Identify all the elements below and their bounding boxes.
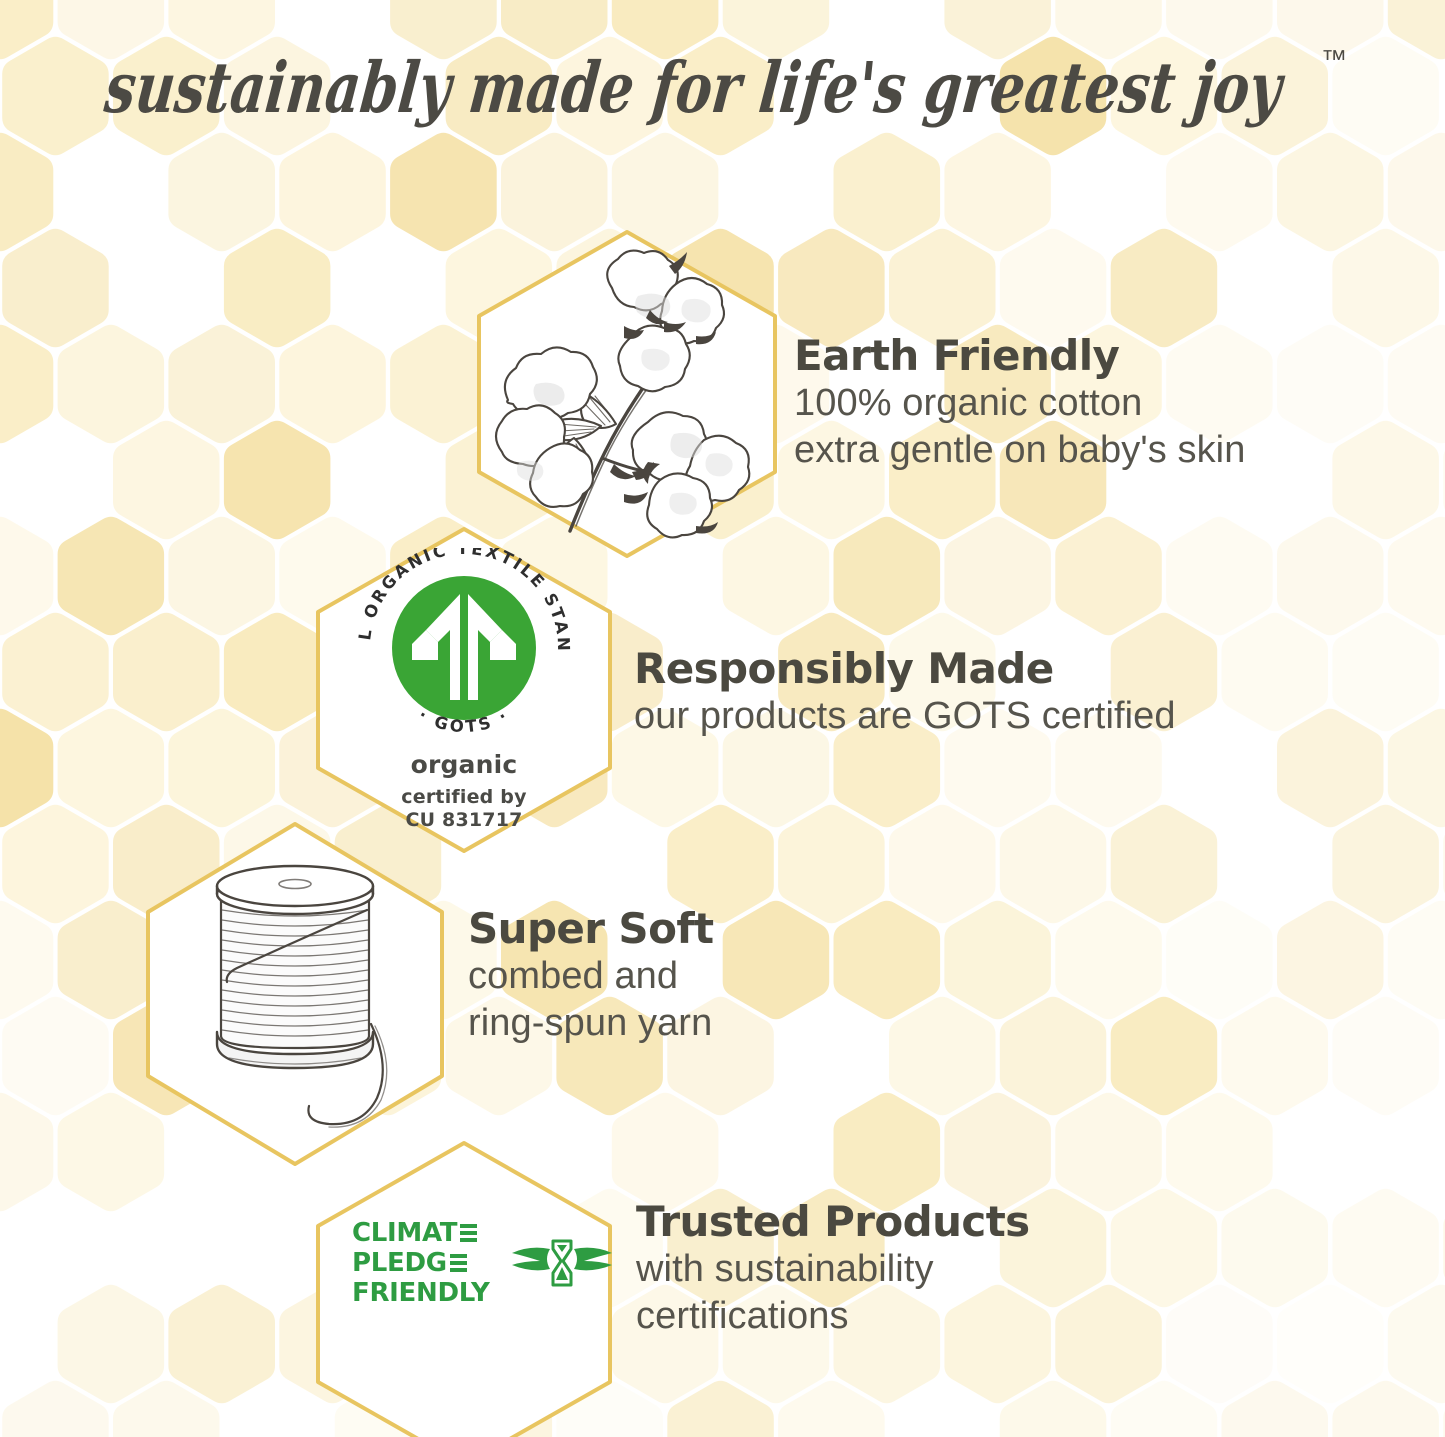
honeycomb-cell xyxy=(1166,1285,1273,1404)
honeycomb-cell xyxy=(889,229,996,348)
honeycomb-cell xyxy=(2,229,109,348)
feature-text-trusted-products: Trusted Products with sustainability cer… xyxy=(636,1198,1030,1341)
feature-line: certifications xyxy=(636,1293,1030,1341)
honeycomb-cell xyxy=(58,517,165,636)
honeycomb-cell xyxy=(1332,613,1439,732)
honeycomb-cell xyxy=(0,1093,53,1212)
honeycomb-cell xyxy=(2,805,109,924)
honeycomb-cell xyxy=(58,325,165,444)
honeycomb-cell xyxy=(0,325,53,444)
gots-certificate-number: CU 831717 xyxy=(334,809,594,832)
feature-title: Earth Friendly xyxy=(794,332,1245,380)
honeycomb-cell xyxy=(1055,1285,1162,1404)
cpf-line1: CLIMAT xyxy=(352,1220,457,1246)
honeycomb-cell xyxy=(1277,325,1384,444)
cpf-line3: FRIENDLY xyxy=(352,1280,490,1306)
honeycomb-cell xyxy=(168,133,275,252)
honeycomb-cell xyxy=(1166,517,1273,636)
honeycomb-cell xyxy=(0,133,53,252)
headline-script-text: sustainably made for life's greatest joy xyxy=(100,46,1289,128)
honeycomb-cell xyxy=(1111,805,1218,924)
honeycomb-cell xyxy=(1277,1285,1384,1404)
honeycomb-cell xyxy=(1055,517,1162,636)
cpf-bars-icon xyxy=(460,1224,477,1242)
honeycomb-cell xyxy=(1277,517,1384,636)
honeycomb-cell xyxy=(279,133,386,252)
trademark-symbol: ™ xyxy=(1321,44,1347,74)
honeycomb-cell xyxy=(1332,805,1439,924)
feature-line: our products are GOTS certified xyxy=(634,693,1176,741)
honeycomb-cell xyxy=(1332,421,1439,540)
honeycomb-cell xyxy=(834,133,941,252)
honeycomb-cell xyxy=(1000,229,1107,348)
sustainability-infographic: sustainably made for life's greatest joy… xyxy=(0,0,1445,1437)
honeycomb-cell xyxy=(1277,901,1384,1020)
feature-title: Super Soft xyxy=(468,905,714,953)
honeycomb-cell xyxy=(1388,1285,1445,1404)
honeycomb-cell xyxy=(889,997,996,1116)
honeycomb-cell xyxy=(1332,1381,1439,1437)
feature-text-earth-friendly: Earth Friendly 100% organic cotton extra… xyxy=(794,332,1245,475)
feature-line: combed and xyxy=(468,953,714,1001)
honeycomb-cell xyxy=(834,901,941,1020)
honeycomb-cell xyxy=(1388,325,1445,444)
honeycomb-cell xyxy=(1388,133,1445,252)
honeycomb-cell xyxy=(2,613,109,732)
winged-hourglass-icon xyxy=(506,1227,618,1299)
cpf-bars-icon xyxy=(450,1254,467,1272)
honeycomb-cell xyxy=(0,901,53,1020)
gots-organic-certification-icon: GLOBAL ORGANIC TEXTILE STANDARD · GOTS ·… xyxy=(334,548,594,832)
gots-organic-label: organic xyxy=(334,750,594,779)
honeycomb-cell xyxy=(224,229,331,348)
honeycomb-cell xyxy=(1055,901,1162,1020)
honeycomb-cell xyxy=(1277,709,1384,828)
honeycomb-cell xyxy=(168,325,275,444)
honeycomb-cell xyxy=(1388,709,1445,828)
honeycomb-cell xyxy=(612,1093,719,1212)
honeycomb-cell xyxy=(113,613,220,732)
honeycomb-cell xyxy=(1166,901,1273,1020)
honeycomb-cell xyxy=(778,229,885,348)
honeycomb-cell xyxy=(113,1381,220,1437)
honeycomb-cell xyxy=(168,517,275,636)
honeycomb-cell xyxy=(723,901,830,1020)
honeycomb-cell xyxy=(1111,997,1218,1116)
honeycomb-cell xyxy=(1000,805,1107,924)
honeycomb-cell xyxy=(113,421,220,540)
honeycomb-cell xyxy=(778,805,885,924)
honeycomb-cell xyxy=(1388,517,1445,636)
honeycomb-cell xyxy=(1277,133,1384,252)
honeycomb-cell xyxy=(1332,997,1439,1116)
honeycomb-cell xyxy=(1388,901,1445,1020)
honeycomb-cell xyxy=(1222,1381,1329,1437)
feature-title: Responsibly Made xyxy=(634,645,1176,693)
cpf-line2: PLEDG xyxy=(352,1250,447,1276)
honeycomb-cell xyxy=(1111,1189,1218,1308)
honeycomb-cell xyxy=(1111,229,1218,348)
honeycomb-cell xyxy=(2,1381,109,1437)
climate-pledge-wordmark: CLIMAT PLEDG FRIENDLY xyxy=(352,1220,490,1306)
honeycomb-cell xyxy=(1000,1381,1107,1437)
headline: sustainably made for life's greatest joy… xyxy=(0,34,1445,144)
feature-line: extra gentle on baby's skin xyxy=(794,427,1245,475)
climate-pledge-friendly-icon: CLIMAT PLEDG FRIENDLY xyxy=(352,1220,618,1306)
honeycomb-cell xyxy=(1222,997,1329,1116)
honeycomb-cell xyxy=(889,805,996,924)
feature-line: with sustainability xyxy=(636,1246,1030,1294)
honeycomb-cell xyxy=(0,517,53,636)
feature-hexagon-super-soft xyxy=(133,818,457,1170)
gots-certified-by-label: certified by xyxy=(334,786,594,809)
feature-line: 100% organic cotton xyxy=(794,380,1245,428)
honeycomb-cell xyxy=(944,517,1051,636)
honeycomb-cell xyxy=(279,325,386,444)
honeycomb-cell xyxy=(1055,1093,1162,1212)
honeycomb-cell xyxy=(0,709,53,828)
feature-text-super-soft: Super Soft combed and ring-spun yarn xyxy=(468,905,714,1048)
honeycomb-cell xyxy=(1222,1189,1329,1308)
honeycomb-cell xyxy=(778,1381,885,1437)
honeycomb-cell xyxy=(944,901,1051,1020)
honeycomb-cell xyxy=(1332,229,1439,348)
honeycomb-cell xyxy=(58,709,165,828)
honeycomb-cell xyxy=(667,1381,774,1437)
feature-title: Trusted Products xyxy=(636,1198,1030,1246)
honeycomb-cell xyxy=(1000,997,1107,1116)
honeycomb-cell xyxy=(224,421,331,540)
honeycomb-cell xyxy=(834,517,941,636)
feature-hexagon-earth-friendly xyxy=(464,226,790,562)
feature-text-responsibly-made: Responsibly Made our products are GOTS c… xyxy=(634,645,1176,740)
honeycomb-cell xyxy=(168,709,275,828)
honeycomb-cell xyxy=(1111,1381,1218,1437)
honeycomb-cell xyxy=(834,1093,941,1212)
honeycomb-cell xyxy=(944,1093,1051,1212)
honeycomb-cell xyxy=(1222,613,1329,732)
honeycomb-cell xyxy=(1166,1093,1273,1212)
honeycomb-cell xyxy=(168,1285,275,1404)
honeycomb-cell xyxy=(2,997,109,1116)
honeycomb-cell xyxy=(58,1285,165,1404)
honeycomb-cell xyxy=(1332,1189,1439,1308)
honeycomb-cell xyxy=(1166,133,1273,252)
honeycomb-cell xyxy=(944,133,1051,252)
feature-line: ring-spun yarn xyxy=(468,1000,714,1048)
